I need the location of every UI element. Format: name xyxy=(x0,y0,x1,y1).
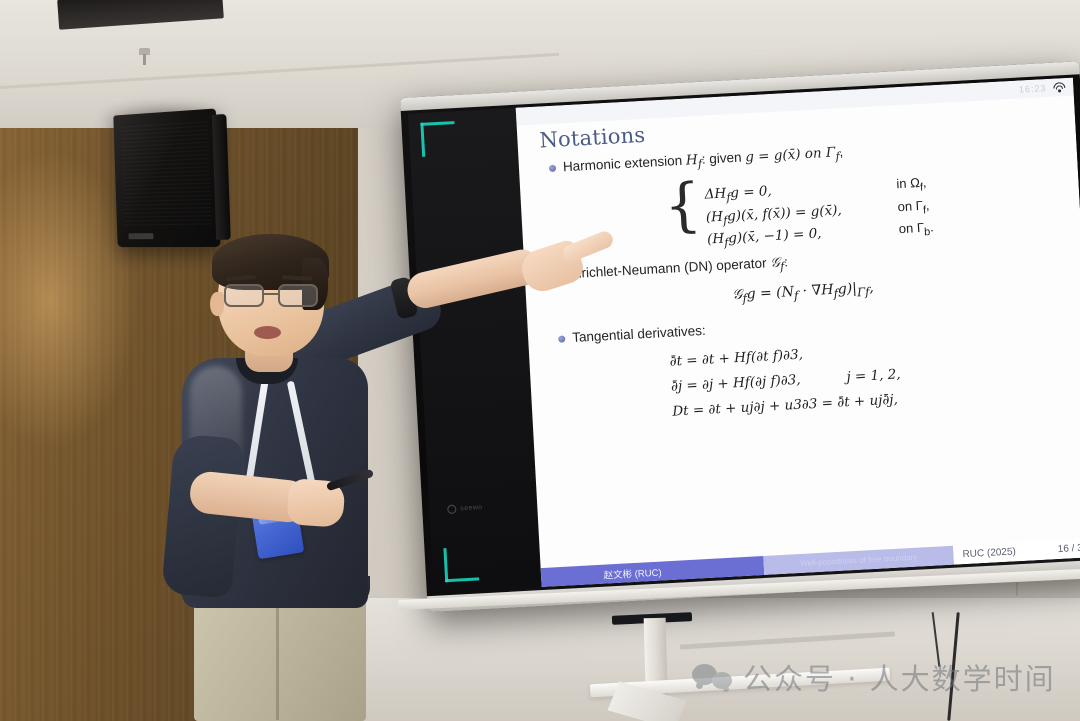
board-clock: 16:23 xyxy=(1019,83,1047,94)
bullet-dot-icon xyxy=(558,335,565,342)
tangential-equation-row: Dt = ∂t + uj∂j + u3∂3 = ∂̄t + uj∂̄j, xyxy=(672,389,944,420)
speaker-grill xyxy=(121,119,212,225)
sprinkler-head-icon xyxy=(134,48,155,66)
presenter xyxy=(150,240,480,721)
presenter-shorts xyxy=(194,592,366,721)
footer-page-number: 16 / 38 xyxy=(1057,542,1080,555)
footer-venue: RUC (2025) xyxy=(962,546,1016,560)
shorts-seam xyxy=(276,600,279,720)
presenter-mouth xyxy=(254,326,281,339)
footer-center-title: Well-posedness of free boundary xyxy=(800,553,918,568)
bullet-text: Dirichlet-Neumann (DN) operator 𝒢f: xyxy=(568,253,788,286)
glasses-lens xyxy=(224,284,264,307)
bullet-text: Tangential derivatives: xyxy=(572,321,706,346)
presenter-glasses xyxy=(222,284,326,308)
presentation-slide[interactable]: Notations Harmonic extension Hf: given g… xyxy=(516,78,1080,587)
annotation-corner-top-left-icon xyxy=(420,121,456,157)
speaker-badge xyxy=(128,233,153,239)
ceiling-speaker xyxy=(113,108,220,247)
wifi-icon[interactable] xyxy=(1052,82,1066,93)
display-screen[interactable]: seewo Notations Harmonic extension Hf: g… xyxy=(408,78,1080,593)
footer-author: 赵文彬 (RUC) xyxy=(541,564,662,584)
smartboard-display[interactable]: seewo Notations Harmonic extension Hf: g… xyxy=(400,61,1080,612)
tangential-equations: ∂̄t = ∂t + Hf(∂t f)∂3, ∂̄j = ∂j + Hf(∂j … xyxy=(669,332,1064,419)
glasses-lens xyxy=(278,284,318,307)
lecture-room-scene: 第25届全国偏微分方程 暨 学术研讨会 seewo Notations xyxy=(0,0,1080,721)
equation-brace: { xyxy=(663,178,704,253)
tangential-equation-row: ∂̄j = ∂j + Hf(∂j f)∂3,j = 1, 2, xyxy=(671,366,901,394)
bullet-dot-icon xyxy=(549,165,556,172)
tangential-equation-row: ∂̄t = ∂t + Hf(∂t f)∂3, xyxy=(669,344,849,370)
glasses-bridge xyxy=(264,293,280,295)
